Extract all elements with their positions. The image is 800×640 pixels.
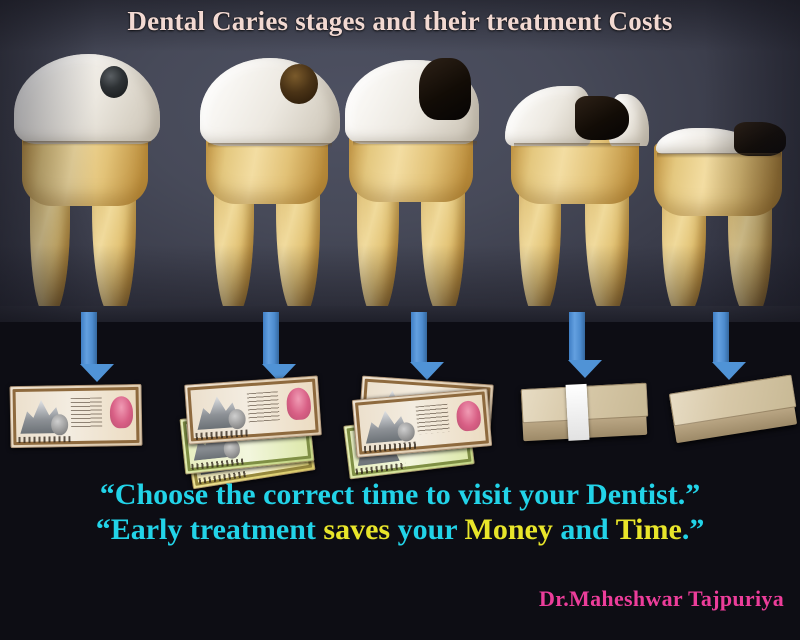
quote-open-2: “	[96, 513, 111, 546]
enamel-cemento-junction	[657, 153, 782, 158]
arrow-shaft	[81, 312, 97, 364]
quote-close-1: .”	[678, 478, 701, 511]
quote-line-1: “Choose the correct time to visit your D…	[0, 478, 800, 512]
quote-text-1: Choose the correct time to visit your De…	[115, 478, 678, 511]
down-arrow-stage-3	[410, 312, 428, 380]
note-script	[70, 398, 102, 429]
arrow-shaft	[569, 312, 585, 360]
arrow-shaft	[263, 312, 279, 364]
tooth-crown	[14, 54, 160, 144]
coin-watermark	[51, 414, 68, 435]
arrow-shaft	[411, 312, 427, 362]
mountain-motif	[670, 389, 712, 419]
down-arrow-stage-4	[568, 312, 586, 378]
enamel-cemento-junction	[353, 141, 476, 146]
poster: Dental Caries stages and their treatment…	[0, 0, 800, 640]
arrow-head	[568, 360, 602, 378]
banknote	[184, 375, 322, 444]
tooth-crown	[200, 58, 340, 146]
caries-lesion-stage-5	[734, 122, 786, 156]
quote-line-2: “Early treatment saves your Money and Ti…	[0, 513, 800, 547]
photo-floor	[0, 306, 800, 322]
mountain-motif	[522, 388, 565, 415]
note-serial	[18, 436, 70, 444]
quote-part-and: and	[560, 513, 615, 546]
down-arrow-stage-2	[262, 312, 280, 382]
banknote	[9, 384, 142, 448]
quote-part-saves: saves	[323, 513, 397, 546]
cost-group-stage-5	[669, 375, 797, 443]
enamel-cemento-junction	[514, 143, 641, 148]
flower-motif	[109, 396, 133, 429]
enamel-cemento-junction	[23, 141, 151, 146]
quote-open-1: “	[100, 478, 115, 511]
author-signature: Dr.Maheshwar Tajpuriya	[539, 586, 784, 612]
quote-part-your: your	[398, 513, 465, 546]
down-arrow-stage-5	[712, 312, 730, 380]
arrow-shaft	[713, 312, 729, 362]
note-script	[415, 404, 449, 435]
caries-lesion-stage-2	[280, 64, 318, 104]
enamel-cemento-junction	[208, 143, 331, 148]
tooth-stage-4	[505, 66, 649, 316]
tooth-photo-panel	[0, 0, 800, 322]
note-script	[247, 391, 281, 422]
tooth-stage-5	[648, 104, 790, 316]
down-arrow-stage-1	[80, 312, 98, 382]
caries-lesion-stage-4	[575, 96, 629, 140]
arrow-head	[712, 362, 746, 380]
quote-part-early: Early treatment	[111, 513, 324, 546]
banknote	[352, 388, 493, 458]
page-title: Dental Caries stages and their treatment…	[0, 6, 800, 37]
quote-part-time: Time	[616, 513, 682, 546]
quote-close-2: .”	[682, 513, 705, 546]
arrow-head	[410, 362, 444, 380]
cost-group-stage-4	[521, 383, 648, 441]
caries-lesion-stage-1	[100, 66, 128, 98]
arrow-head	[80, 364, 114, 382]
tooth-stage-2	[200, 56, 340, 316]
tooth-stage-3	[345, 58, 485, 316]
caries-lesion-stage-3	[419, 58, 471, 120]
quote-part-money: Money	[465, 513, 561, 546]
tooth-stage-1	[14, 56, 160, 316]
